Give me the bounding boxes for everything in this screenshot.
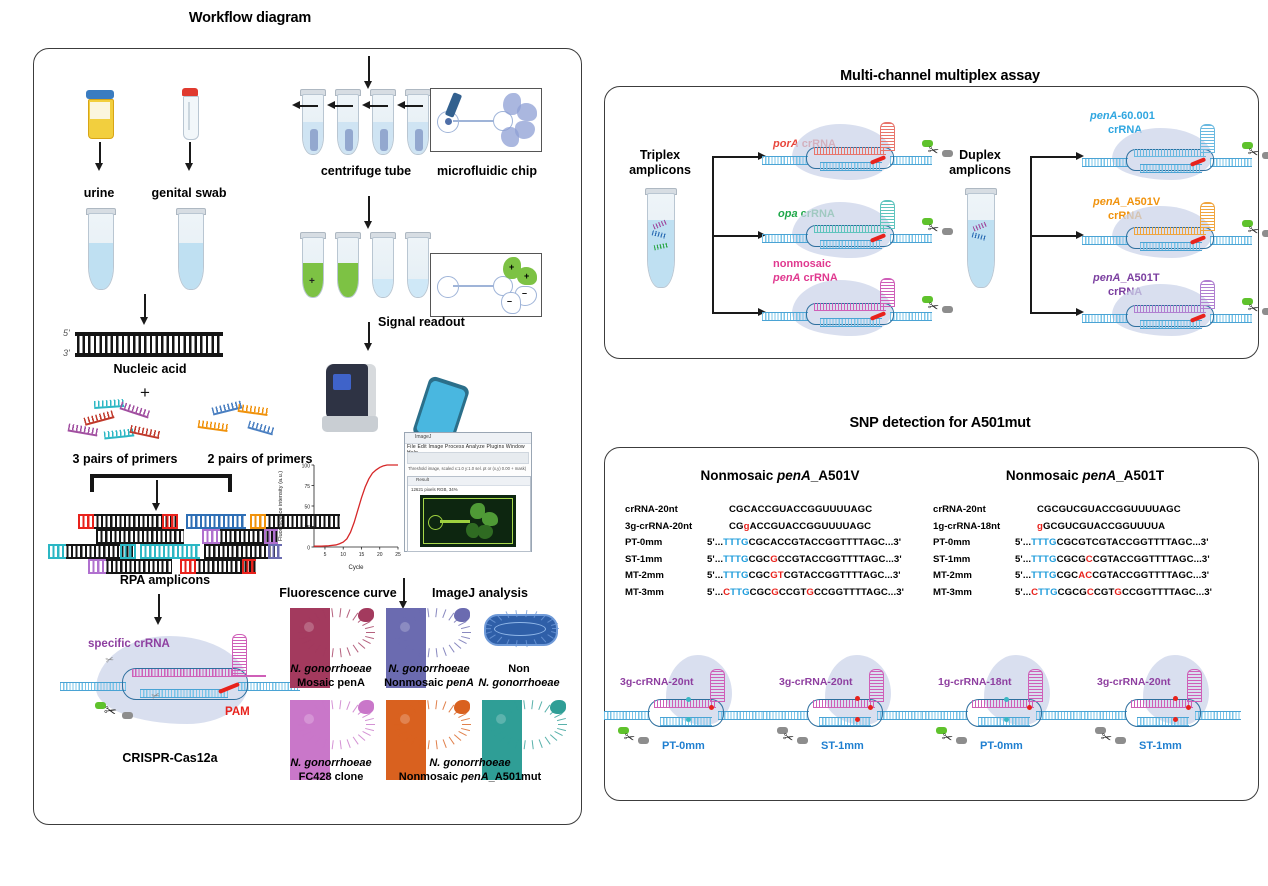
sequence-row-name: PT-0mm xyxy=(933,537,1015,548)
triplex-amplicons-tube xyxy=(645,188,675,286)
svg-text:20: 20 xyxy=(377,552,383,558)
svg-text:25: 25 xyxy=(395,552,401,558)
sequence-row-value: 5'...TTTGCGCGTCGTACCGGTTTTAGC...3' xyxy=(1015,537,1209,548)
sample-tube-1 xyxy=(86,208,114,288)
snp-right-sequence-table: crRNA-20ntCGCGUCGUACCGGUUUUAGC1g-crRNA-1… xyxy=(933,504,1212,603)
fluorophore-dot xyxy=(95,702,106,709)
sequence-row: 3g-crRNA-20ntCGgACCGUACCGGUUUUAGC xyxy=(625,521,904,538)
multiplex-arrow-left-1 xyxy=(712,156,758,158)
arrow-to-bacteria xyxy=(403,578,405,602)
label-rpa-amplicons: RPA amplicons xyxy=(105,573,225,587)
sequence-row-value: CGgACCGUACCGGUUUUAGC xyxy=(729,521,871,532)
sequence-row-name: crRNA-20nt xyxy=(933,504,1015,515)
svg-text:Cycle: Cycle xyxy=(348,565,364,571)
snp-panel-title: SNP detection for A501mut xyxy=(790,415,1090,431)
svg-text:10: 10 xyxy=(340,552,346,558)
sequence-row: MT-3mm5'...CTTGCGCGCCGTGCCGGTTTTAGC...3' xyxy=(933,587,1212,604)
bacteria-5-label-1: N. gonorrhoeae xyxy=(400,757,540,769)
centrifuge-tubes-group xyxy=(300,89,440,153)
sequence-row-value: 5'...CTTGCGCGCCGTGCCGGTTTTAGC...3' xyxy=(707,587,904,598)
arrow-top-centrifuge xyxy=(368,56,370,82)
bacteria-2 xyxy=(386,608,472,660)
sequence-row-value: 5'...TTTGCGCGCCGTACCGGTTTTAGC...3' xyxy=(1015,554,1210,565)
multiplex-arrow-left-2 xyxy=(712,235,758,237)
multiplex-complex-a501v: ✂ xyxy=(1082,206,1252,264)
triplex-amplicons-label-2: amplicons xyxy=(610,163,710,177)
fluorescence-reader-icon xyxy=(318,358,388,436)
svg-text:Fluorescence intensity (a.u.): Fluorescence intensity (a.u.) xyxy=(278,471,284,541)
sequence-row-value: 5'...TTTGCGCACCGTACCGGTTTTAGC...3' xyxy=(1015,570,1209,581)
svg-text:50: 50 xyxy=(304,505,310,511)
snp-diagram-2: ✂ xyxy=(763,655,923,745)
sequence-row: MT-2mm5'...TTTGCGCACCGTACCGGTTTTAGC...3' xyxy=(933,570,1212,587)
genital-swab-icon xyxy=(180,88,200,140)
sequence-row: MT-3mm5'...CTTGCGCGCCGTGCCGGTTTTAGC...3' xyxy=(625,587,904,604)
sequence-row-value: 5'...TTTGCGCGTCGTACCGGTTTTAGC...3' xyxy=(707,570,901,581)
sequence-row-value: CGCGUCGUACCGGUUUUAGC xyxy=(1037,504,1181,515)
svg-text:25: 25 xyxy=(304,525,310,531)
triplex-amplicons-label-1: Triplex xyxy=(610,148,710,162)
bacteria-1 xyxy=(290,608,376,660)
imagej-statusbar: Threshold image, scaled x:1.0 y:1.0 sel.… xyxy=(408,466,528,471)
bacteria-5-label-2: Nonmosaic penA_A501mut xyxy=(370,771,570,783)
multiplex-arrow-right-2 xyxy=(1030,235,1076,237)
multiplex-complex-pena: ✂ xyxy=(762,278,932,342)
sequence-row: crRNA-20ntCGCACCGUACCGGUUUUAGC xyxy=(625,504,904,521)
duplex-amplicons-tube xyxy=(965,188,995,286)
snp-right-heading: Nonmosaic penA_A501T xyxy=(945,468,1225,483)
imagej-toolbar[interactable] xyxy=(407,452,529,464)
pena-a501t-crrna-label-1: penA_A501T xyxy=(1093,272,1160,284)
multiplex-complex-opa: ✂ xyxy=(762,200,932,264)
snp-diagram-1-result-label: PT-0mm xyxy=(662,740,705,752)
label-five-prime: 5' xyxy=(63,328,70,338)
sequence-row: ST-1mm5'...TTTGCGCGCCGTACCGGTTTTAGC...3' xyxy=(625,554,904,571)
duplex-amplicons-label-1: Duplex xyxy=(930,148,1030,162)
sequence-row-name: 3g-crRNA-20nt xyxy=(625,521,707,532)
imagej-titlebar-label: ImageJ xyxy=(415,434,431,440)
sequence-row-name: ST-1mm xyxy=(933,554,1015,565)
arrow-to-nucleic-acid xyxy=(144,294,146,318)
bacteria-5 xyxy=(386,700,472,752)
label-genital-swab: genital swab xyxy=(134,186,244,200)
label-urine: urine xyxy=(59,186,139,200)
sequence-row-name: MT-3mm xyxy=(625,587,707,598)
sequence-row: ST-1mm5'...TTTGCGCGCCGTACCGGTTTTAGC...3' xyxy=(933,554,1212,571)
pena-60001-crrna-label-1: penA-60.001 xyxy=(1090,110,1155,122)
label-microfluidic-chip: microfluidic chip xyxy=(424,164,550,178)
snp-diagram-3-crrna-label: 1g-crRNA-18nt xyxy=(938,676,1012,688)
multiplex-panel-title: Multi-channel multiplex assay xyxy=(770,68,1110,84)
sequence-row-value: CGCACCGUACCGGUUUUAGC xyxy=(729,504,872,515)
bacteria-4 xyxy=(290,700,376,752)
label-pam: PAM xyxy=(225,706,250,718)
microfluidic-chip-2: + + – – xyxy=(430,253,542,317)
sequence-row-value: 5'...TTTGCGCGCCGTACCGGTTTTAGC...3' xyxy=(707,554,902,565)
bacteria-2-label-1: N. gonorrhoeae xyxy=(372,663,486,675)
snp-left-heading: Nonmosaic penA_A501V xyxy=(640,468,920,483)
multiplex-arrow-left-3 xyxy=(712,312,758,314)
nucleic-acid-graphic xyxy=(75,332,223,358)
arrow-to-amplicons xyxy=(156,480,158,504)
bacteria-4-label-1: N. gonorrhoeae xyxy=(276,757,386,769)
arrow-signal-readout xyxy=(368,322,370,344)
label-signal-readout: Signal readout xyxy=(378,315,498,329)
primer-cluster-2pairs xyxy=(190,402,280,442)
snp-diagram-3: ✂ xyxy=(922,655,1082,745)
multiplex-arrow-right-3 xyxy=(1030,312,1076,314)
fluorescence-curve-chart: 0255075100510152025CycleFluorescence int… xyxy=(272,455,404,583)
snp-left-sequence-table: crRNA-20ntCGCACCGUACCGGUUUUAGC3g-crRNA-2… xyxy=(625,504,904,603)
label-crispr-cas12a: CRISPR-Cas12a xyxy=(100,751,240,765)
snp-diagram-4: ✂ xyxy=(1081,655,1241,745)
label-specific-crrna: specific crRNA xyxy=(88,638,170,650)
multiplex-complex-porA: ✂ xyxy=(762,122,932,186)
sequence-row: PT-0mm5'...TTTGCGCACCGTACCGGTTTTAGC...3' xyxy=(625,537,904,554)
sequence-row: PT-0mm5'...TTTGCGCGTCGTACCGGTTTTAGC...3' xyxy=(933,537,1212,554)
label-three-prime: 3' xyxy=(63,348,70,358)
sequence-row-value: 5'...CTTGCGCGCCGTGCCGGTTTTAGC...3' xyxy=(1015,587,1212,598)
label-centrifuge-tube: centrifuge tube xyxy=(296,164,436,178)
sample-tube-2 xyxy=(176,208,204,288)
result-tubes-group: + + – – xyxy=(300,232,440,296)
sequence-row: crRNA-20ntCGCGUCGUACCGGUUUUAGC xyxy=(933,504,1212,521)
snp-diagram-4-result-label: ST-1mm xyxy=(1139,740,1182,752)
sequence-row-value: gGCGUCGUACCGGUUUUA xyxy=(1037,521,1165,532)
bacteria-3-label-1: Non xyxy=(472,663,566,675)
snp-diagram-2-crrna-label: 3g-crRNA-20nt xyxy=(779,676,853,688)
snp-diagram-1: ✂ xyxy=(604,655,764,745)
sequence-row-name: PT-0mm xyxy=(625,537,707,548)
imagej-window[interactable]: ImageJ File Edit Image Process Analyze P… xyxy=(404,432,532,552)
bacteria-1-label-2: Mosaic penA xyxy=(276,677,386,689)
bacteria-3 xyxy=(482,608,556,648)
imagej-image-canvas xyxy=(420,495,516,547)
brace-primers xyxy=(90,474,232,492)
svg-text:75: 75 xyxy=(304,484,310,490)
svg-text:5: 5 xyxy=(324,552,327,558)
arrow-to-crispr xyxy=(158,594,160,618)
arrow-urine-down xyxy=(99,142,101,164)
imagej-subwindow-status: 12621 pixels RGB, 34% xyxy=(411,487,458,492)
sequence-row-name: ST-1mm xyxy=(625,554,707,565)
arrow-mid-chip xyxy=(368,196,370,222)
sequence-row-name: 1g-crRNA-18nt xyxy=(933,521,1015,532)
urine-cup-icon xyxy=(84,90,116,138)
bacteria-1-label-1: N. gonorrhoeae xyxy=(276,663,386,675)
sequence-row-name: MT-2mm xyxy=(625,570,707,581)
imagej-subwindow[interactable]: Result 12621 pixels RGB, 34% xyxy=(407,476,531,552)
multiplex-complex-pena60001: ✂ xyxy=(1082,128,1252,186)
workflow-panel-title: Workflow diagram xyxy=(100,10,400,26)
label-imagej-analysis: ImageJ analysis xyxy=(420,586,540,600)
snp-match-dot xyxy=(686,697,691,702)
snp-diagram-2-result-label: ST-1mm xyxy=(821,740,864,752)
snp-diagram-4-crrna-label: 3g-crRNA-20nt xyxy=(1097,676,1171,688)
svg-text:100: 100 xyxy=(302,464,311,470)
sequence-row: 1g-crRNA-18ntgGCGUCGUACCGGUUUUA xyxy=(933,521,1212,538)
primer-cluster-3pairs xyxy=(64,400,184,442)
bacteria-3-label-2: N. gonorrhoeae xyxy=(466,677,572,689)
svg-text:0: 0 xyxy=(307,546,310,552)
svg-text:15: 15 xyxy=(359,552,365,558)
sequence-row: MT-2mm5'...TTTGCGCGTCGTACCGGTTTTAGC...3' xyxy=(625,570,904,587)
snp-diagram-3-result-label: PT-0mm xyxy=(980,740,1023,752)
snp-diagram-1-crrna-label: 3g-crRNA-20nt xyxy=(620,676,694,688)
multiplex-complex-a501t: ✂ xyxy=(1082,284,1252,342)
label-fluorescence-curve: Fluorescence curve xyxy=(268,586,408,600)
quencher-dot xyxy=(122,712,133,719)
sequence-row-value: 5'...TTTGCGCACCGTACCGGTTTTAGC...3' xyxy=(707,537,901,548)
sequence-row-name: MT-2mm xyxy=(933,570,1015,581)
duplex-amplicons-label-2: amplicons xyxy=(930,163,1030,177)
sequence-row-name: MT-3mm xyxy=(933,587,1015,598)
microfluidic-chip-1 xyxy=(430,88,542,152)
arrow-swab-down xyxy=(189,142,191,164)
label-nucleic-acid: Nucleic acid xyxy=(95,362,205,376)
multiplex-arrow-right-1 xyxy=(1030,156,1076,158)
rpa-amplicons-graphic xyxy=(36,514,286,570)
bacteria-6 xyxy=(482,700,568,752)
sequence-row-name: crRNA-20nt xyxy=(625,504,707,515)
imagej-subwindow-title: Result xyxy=(416,477,429,482)
